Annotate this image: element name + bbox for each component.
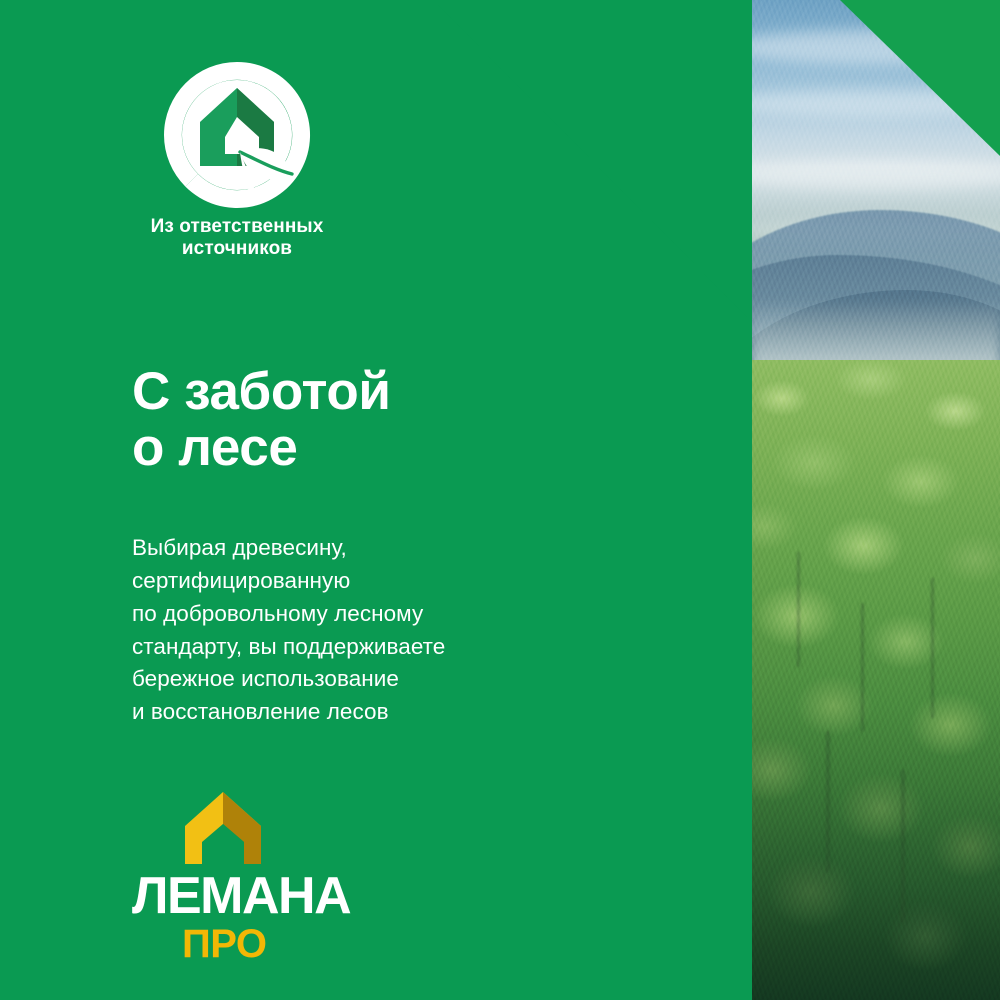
photo-grain <box>752 0 1000 1000</box>
poster: Из ответственных источников С заботой о … <box>0 0 1000 1000</box>
body-line-4: стандарту, вы поддерживаете <box>132 631 692 664</box>
brand-logo: ЛЕМАНА ПРО <box>132 790 432 964</box>
lemana-house-icon <box>182 790 264 866</box>
content-column: Из ответственных источников С заботой о … <box>0 0 752 1000</box>
body-line-6: и восстановление лесов <box>132 696 692 729</box>
body-paragraph: Выбирая древесину, сертифицированную по … <box>132 532 692 729</box>
house-leaf-circle-emblem <box>162 60 312 210</box>
body-line-1: Выбирая древесину, <box>132 532 692 565</box>
certification-caption: Из ответственных источников <box>132 216 342 261</box>
headline-line-1: С заботой <box>132 364 652 420</box>
body-line-2: сертифицированную <box>132 565 692 598</box>
brand-name: ЛЕМАНА <box>132 870 432 922</box>
body-line-3: по добровольному лесному <box>132 598 692 631</box>
certification-caption-line-2: источников <box>182 238 292 259</box>
page-title: С заботой о лесе <box>132 364 652 476</box>
body-line-5: бережное использование <box>132 663 692 696</box>
forest-mountain-photo <box>752 0 1000 1000</box>
headline-line-2: о лесе <box>132 420 652 476</box>
brand-tier: ПРО <box>182 924 432 964</box>
certification-caption-line-1: Из ответственных <box>151 216 324 237</box>
certification-emblem: Из ответственных источников <box>132 60 342 261</box>
